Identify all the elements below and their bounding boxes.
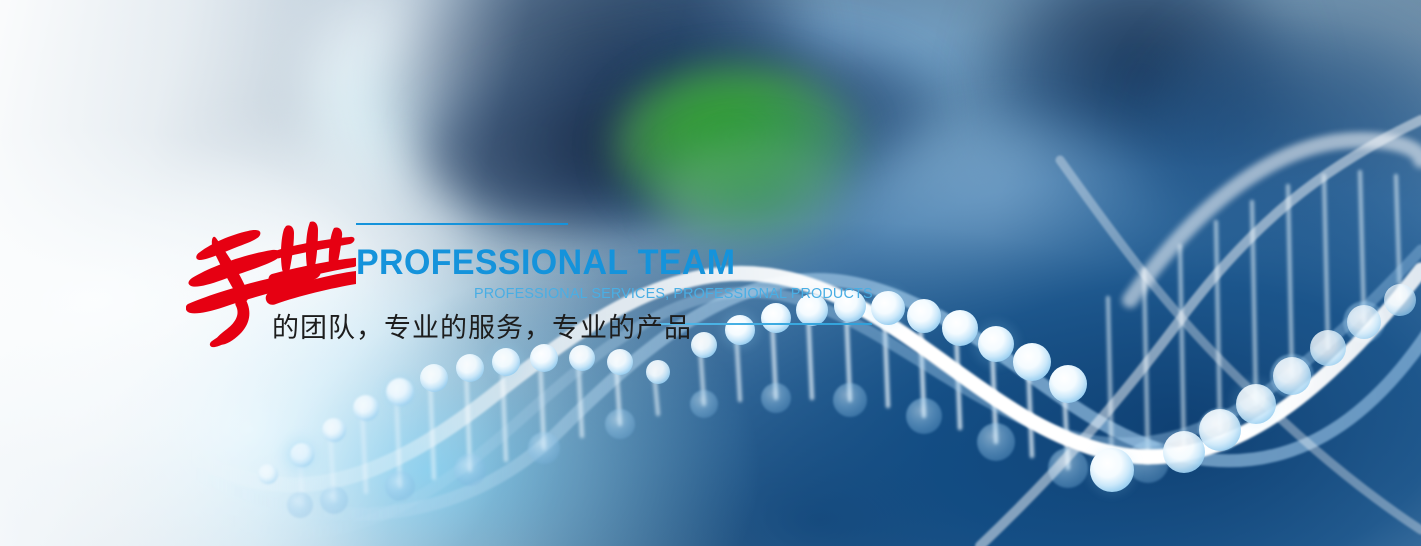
headline-english: PROFESSIONAL TEAM (356, 243, 735, 283)
hero-banner: PROFESSIONAL TEAM PROFESSIONAL SERVICES,… (0, 0, 1421, 546)
banner-text-block: PROFESSIONAL TEAM PROFESSIONAL SERVICES,… (0, 0, 1421, 546)
subheadline-english: PROFESSIONAL SERVICES, PROFESSIONAL PROD… (474, 285, 873, 302)
subheadline-chinese: 的团队，专业的服务，专业的产品 (272, 306, 692, 345)
top-accent-rule (356, 223, 568, 225)
